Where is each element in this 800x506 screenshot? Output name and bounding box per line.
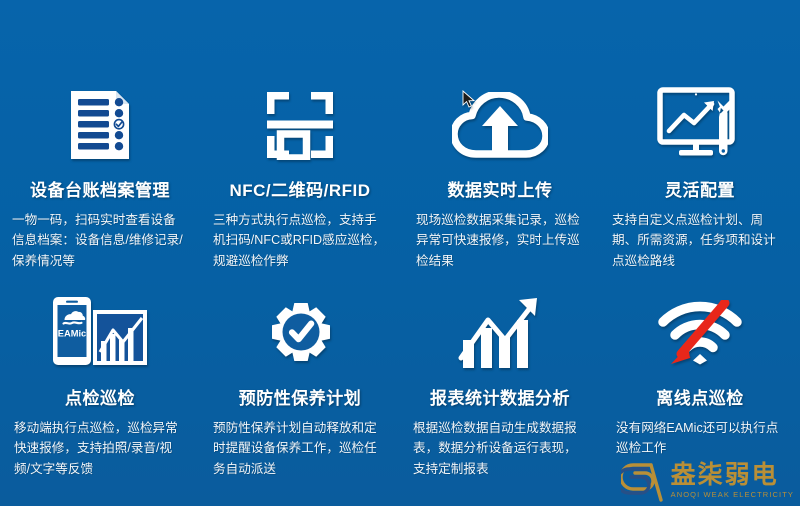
feature-card-report-analytics[interactable]: 报表统计数据分析 根据巡检数据自动生成数据报表，数据分析设备运行表现，支持定制报… [400,290,600,498]
watermark: 盎柒弱电 ANOQI WEAK ELECTRICITY [621,460,794,502]
gear-check-icon [262,290,338,376]
feature-card-title: 灵活配置 [665,176,735,201]
phone-app-label: EAMic [58,329,86,339]
mobile-chart-icon: EAMic [51,290,149,376]
cloud-upload-icon [452,82,548,168]
anoqi-logo-icon [621,460,665,502]
watermark-name-en: ANOQI WEAK ELECTRICITY [671,491,794,499]
watermark-name-cn: 盎柒弱电 [671,463,794,488]
feature-card-flexible-config[interactable]: 灵活配置 支持自定义点巡检计划、周期、所需资源，任务项和设计点巡检路线 [600,82,800,290]
feature-card-title: 离线点巡检 [656,384,744,409]
feature-board: 设备台账档案管理 一物一码，扫码实时查看设备信息档案：设备信息/维修记录/保养情… [0,0,800,506]
feature-card-description: 支持自定义点巡检计划、周期、所需资源，任务项和设计点巡检路线 [612,210,788,271]
feature-grid: 设备台账档案管理 一物一码，扫码实时查看设备信息档案：设备信息/维修记录/保养情… [0,82,800,498]
feature-card-description: 没有网络EAMic还可以执行点巡检工作 [616,418,784,459]
feature-card-realtime-upload[interactable]: 数据实时上传 现场巡检数据采集记录，巡检异常可快速报修，实时上传巡检结果 [400,82,600,290]
feature-card-description: 预防性保养计划自动释放和定时提醒设备保养工作，巡检任务自动派送 [213,418,387,479]
bar-chart-arrow-icon [457,290,543,376]
feature-card-title: NFC/二维码/RFID [229,176,370,201]
feature-card-nfc-qr-rfid[interactable]: NFC/二维码/RFID 三种方式执行点巡检，支持手机扫码/NFC或RFID感应… [200,82,400,290]
feature-card-description: 现场巡检数据采集记录，巡检异常可快速报修，实时上传巡检结果 [416,210,584,271]
feature-card-title: 预防性保养计划 [239,384,362,409]
checklist-document-icon [69,82,131,168]
monitor-chart-wrench-icon [657,82,743,168]
feature-card-point-inspection[interactable]: EAMic 点检巡检 移动端执行点巡检，巡检异常快速报修，支持拍照/录音/视频/… [0,290,200,498]
feature-card-description: 根据巡检数据自动生成数据报表，数据分析设备运行表现，支持定制报表 [413,418,587,479]
qrcode-scan-icon [265,82,335,168]
feature-card-title: 报表统计数据分析 [430,384,570,409]
feature-card-preventive-maintenance[interactable]: 预防性保养计划 预防性保养计划自动释放和定时提醒设备保养工作，巡检任务自动派送 [200,290,400,498]
watermark-text: 盎柒弱电 ANOQI WEAK ELECTRICITY [671,463,794,499]
wifi-offline-icon [657,290,743,376]
mouse-cursor-icon [462,90,476,108]
feature-card-description: 移动端执行点巡检，巡检异常快速报修，支持拍照/录音/视频/文字等反馈 [14,418,186,479]
feature-card-equipment-ledger[interactable]: 设备台账档案管理 一物一码，扫码实时查看设备信息档案：设备信息/维修记录/保养情… [0,82,200,290]
feature-card-description: 三种方式执行点巡检，支持手机扫码/NFC或RFID感应巡检，规避巡检作弊 [213,210,387,271]
feature-card-description: 一物一码，扫码实时查看设备信息档案：设备信息/维修记录/保养情况等 [12,210,188,271]
feature-card-title: 设备台账档案管理 [30,176,170,201]
feature-card-title: 点检巡检 [65,384,135,409]
feature-card-title: 数据实时上传 [448,176,553,201]
